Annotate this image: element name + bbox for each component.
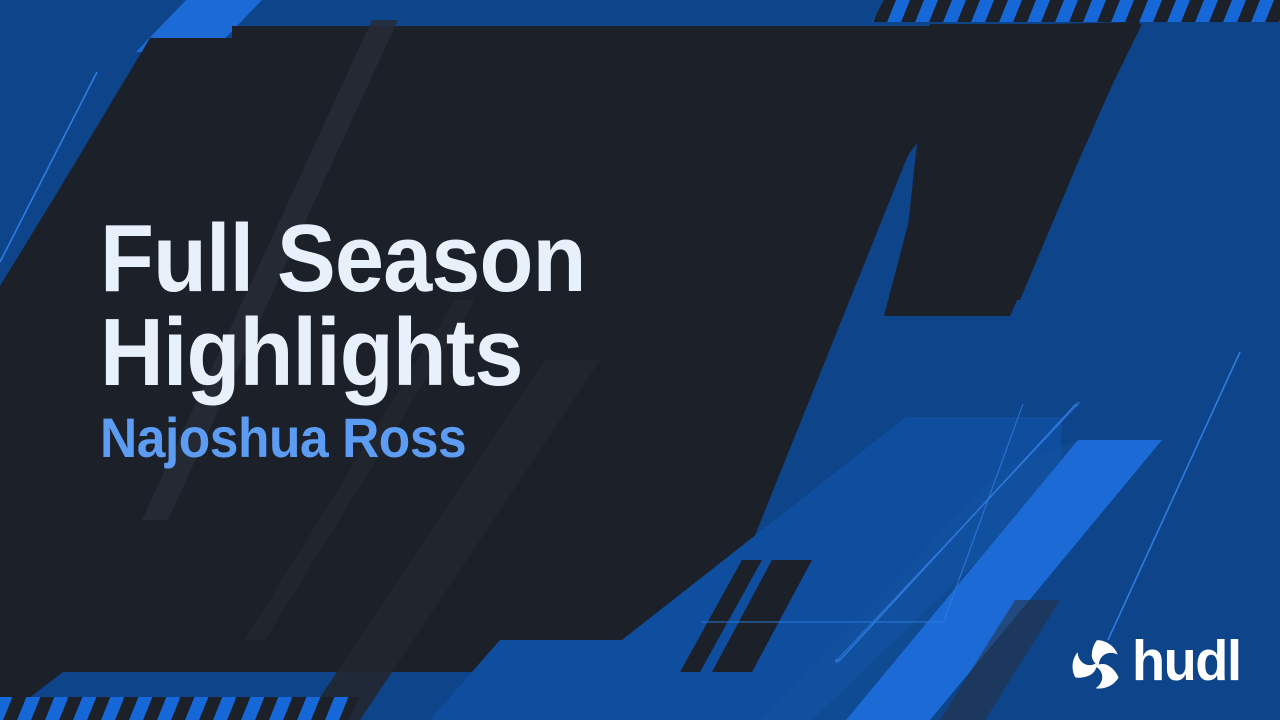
hatch-band-bottom-left (0, 697, 360, 720)
title-line-2: Highlights (100, 306, 799, 400)
highlight-title-card: Full Season Highlights Najoshua Ross hud… (0, 0, 1280, 720)
hudl-wordmark: hudl (1132, 633, 1241, 690)
hatch-band-top-right (872, 0, 1280, 22)
hudl-triskelion-icon (1071, 638, 1123, 690)
hudl-logo: hudl (1071, 635, 1246, 692)
title-line-1: Full Season (100, 212, 799, 306)
title-block: Full Season Highlights Najoshua Ross (100, 212, 860, 466)
subject-name: Najoshua Ross (100, 410, 799, 466)
